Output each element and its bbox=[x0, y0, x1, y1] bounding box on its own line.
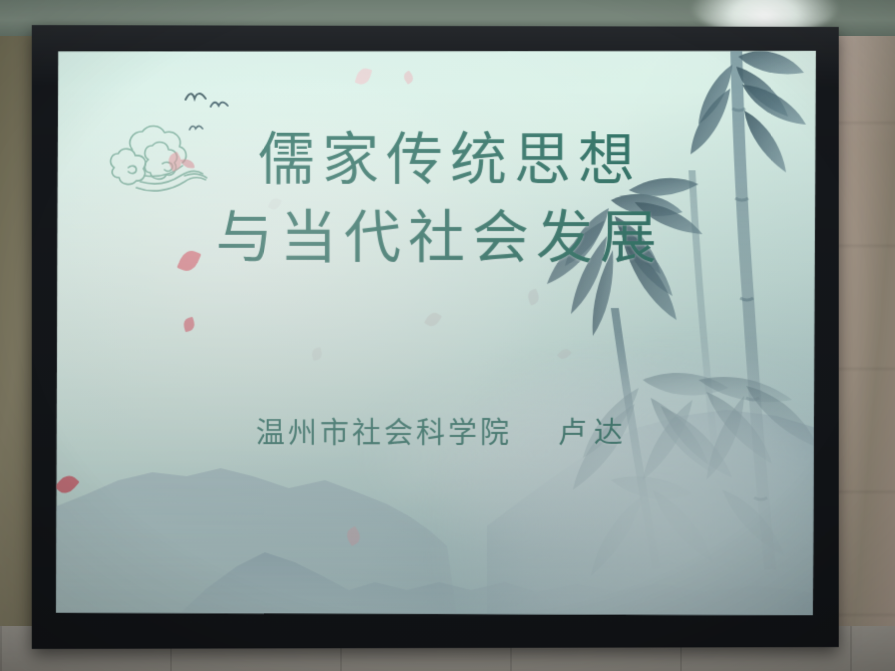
petal bbox=[557, 347, 572, 362]
presentation-slide: 儒家传统思想 与当代社会发展 温州市社会科学院卢达 bbox=[56, 49, 816, 617]
title-line-2: 与当代社会发展 bbox=[56, 200, 816, 279]
flying-bird-icon bbox=[210, 98, 230, 112]
petal bbox=[165, 152, 184, 172]
ink-wash-bamboo bbox=[493, 50, 816, 616]
petal bbox=[344, 526, 363, 546]
room-photo: 儒家传统思想 与当代社会发展 温州市社会科学院卢达 bbox=[0, 0, 895, 671]
petal bbox=[56, 472, 80, 498]
petal bbox=[526, 288, 541, 305]
flying-bird-icon bbox=[185, 90, 211, 106]
petal bbox=[182, 317, 196, 333]
slide-byline: 温州市社会科学院卢达 bbox=[56, 410, 816, 453]
slide-title: 儒家传统思想 与当代社会发展 bbox=[56, 121, 816, 278]
auspicious-cloud-motif bbox=[102, 115, 212, 205]
distant-mountain-silhouettes bbox=[56, 376, 816, 617]
mist-layer-middle bbox=[357, 356, 816, 556]
mist-layer-bottom-right bbox=[437, 346, 816, 617]
petal bbox=[424, 310, 442, 329]
petal bbox=[402, 70, 416, 84]
title-line-1: 儒家传统思想 bbox=[56, 121, 816, 200]
petal bbox=[177, 247, 202, 274]
byline-organization: 温州市社会科学院 bbox=[256, 418, 512, 450]
projection-screen-frame: 儒家传统思想 与当代社会发展 温州市社会科学院卢达 bbox=[32, 25, 839, 649]
byline-presenter: 卢达 bbox=[558, 418, 630, 450]
petal bbox=[311, 347, 324, 361]
petal bbox=[355, 66, 373, 86]
petal bbox=[268, 196, 282, 211]
flying-bird-icon bbox=[189, 122, 205, 134]
